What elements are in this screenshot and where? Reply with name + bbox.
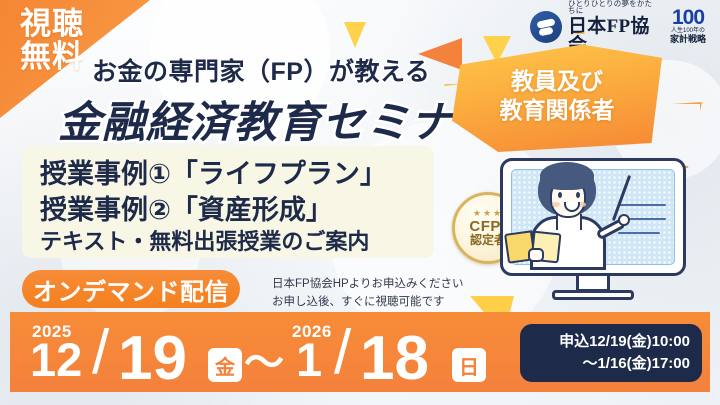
target-audience-label: 教員及び 教育関係者 — [452, 40, 662, 152]
end-weekday-badge: 日 — [452, 348, 486, 382]
application-deadline-box: 申込12/19(金)10:00 〜1/16(金)17:00 — [520, 324, 702, 382]
presenter-hand-on-book — [528, 248, 544, 262]
life-100-badge: 100 人生100年の 家計戦略 — [664, 9, 712, 45]
end-month: 1 — [296, 336, 322, 383]
presenter-illustration — [500, 158, 686, 308]
deadline-line-2: 〜1/16(金)17:00 — [582, 353, 690, 375]
open-book-icon — [506, 230, 562, 264]
date-range-separator: 〜 — [244, 330, 284, 388]
target-line-1: 教員及び — [511, 68, 603, 95]
presenter-hand — [618, 214, 630, 226]
screen-text-line — [618, 232, 660, 234]
application-note: 日本FP協会HPよりお申込みください お申し込後、すぐに視聴可能です — [272, 276, 463, 312]
presenter-eye — [558, 192, 562, 198]
yellow-triangle-icon — [344, 22, 366, 48]
deadline-line-1: 申込12/19(金)10:00 — [559, 331, 690, 353]
free-viewing-label: 視聴 無料 — [9, 8, 95, 74]
seal-cfp-text: CFP — [469, 218, 501, 235]
topic-line-3: テキスト・無料出張授業のご案内 — [40, 224, 369, 256]
start-date-slash: / — [92, 322, 109, 384]
target-line-2: 教育関係者 — [500, 97, 615, 124]
end-day: 18 — [360, 328, 429, 390]
headline-title: 金融経済教育セミナー — [58, 88, 498, 150]
topic-line-2: 授業事例②「資産形成」 — [40, 188, 333, 227]
end-date-slash: / — [334, 322, 351, 384]
note-line-1: 日本FP協会HPよりお申込みください — [272, 276, 463, 294]
presenter-hair-top — [540, 162, 594, 190]
seal-stars-icon: ★★★ — [473, 209, 503, 218]
badge-number: 100 — [672, 9, 704, 28]
on-demand-pill: オンデマンド配信 — [22, 270, 240, 308]
target-audience-banner: 教員及び 教育関係者 — [452, 40, 662, 152]
badge-line-2: 家計戦略 — [670, 35, 706, 45]
ribbon-line-1: 視聴 — [9, 8, 95, 41]
start-month: 12 — [30, 336, 82, 383]
monitor-stand-base — [552, 290, 634, 300]
seminar-banner: 視聴 無料 ひとりひとりの夢をかたちに 日本FP協会 100 人生100年の 家… — [0, 0, 720, 405]
start-day: 19 — [118, 328, 187, 390]
headline-subtitle: お金の専門家（FP）が教える — [92, 52, 430, 88]
screen-text-line — [618, 204, 666, 206]
topics-box: 授業事例①「ライフプラン」 授業事例②「資産形成」 テキスト・無料出張授業のご案… — [22, 146, 434, 258]
note-line-2: お申し込後、すぐに視聴可能です — [272, 294, 463, 312]
logo-tagline: ひとりひとりの夢をかたちに — [568, 0, 658, 15]
presenter-cheek — [552, 202, 560, 207]
presenter-eye — [576, 192, 580, 198]
start-weekday-badge: 金 — [208, 348, 242, 382]
ribbon-line-2: 無料 — [9, 41, 95, 74]
topic-line-1: 授業事例①「ライフプラン」 — [40, 152, 387, 191]
